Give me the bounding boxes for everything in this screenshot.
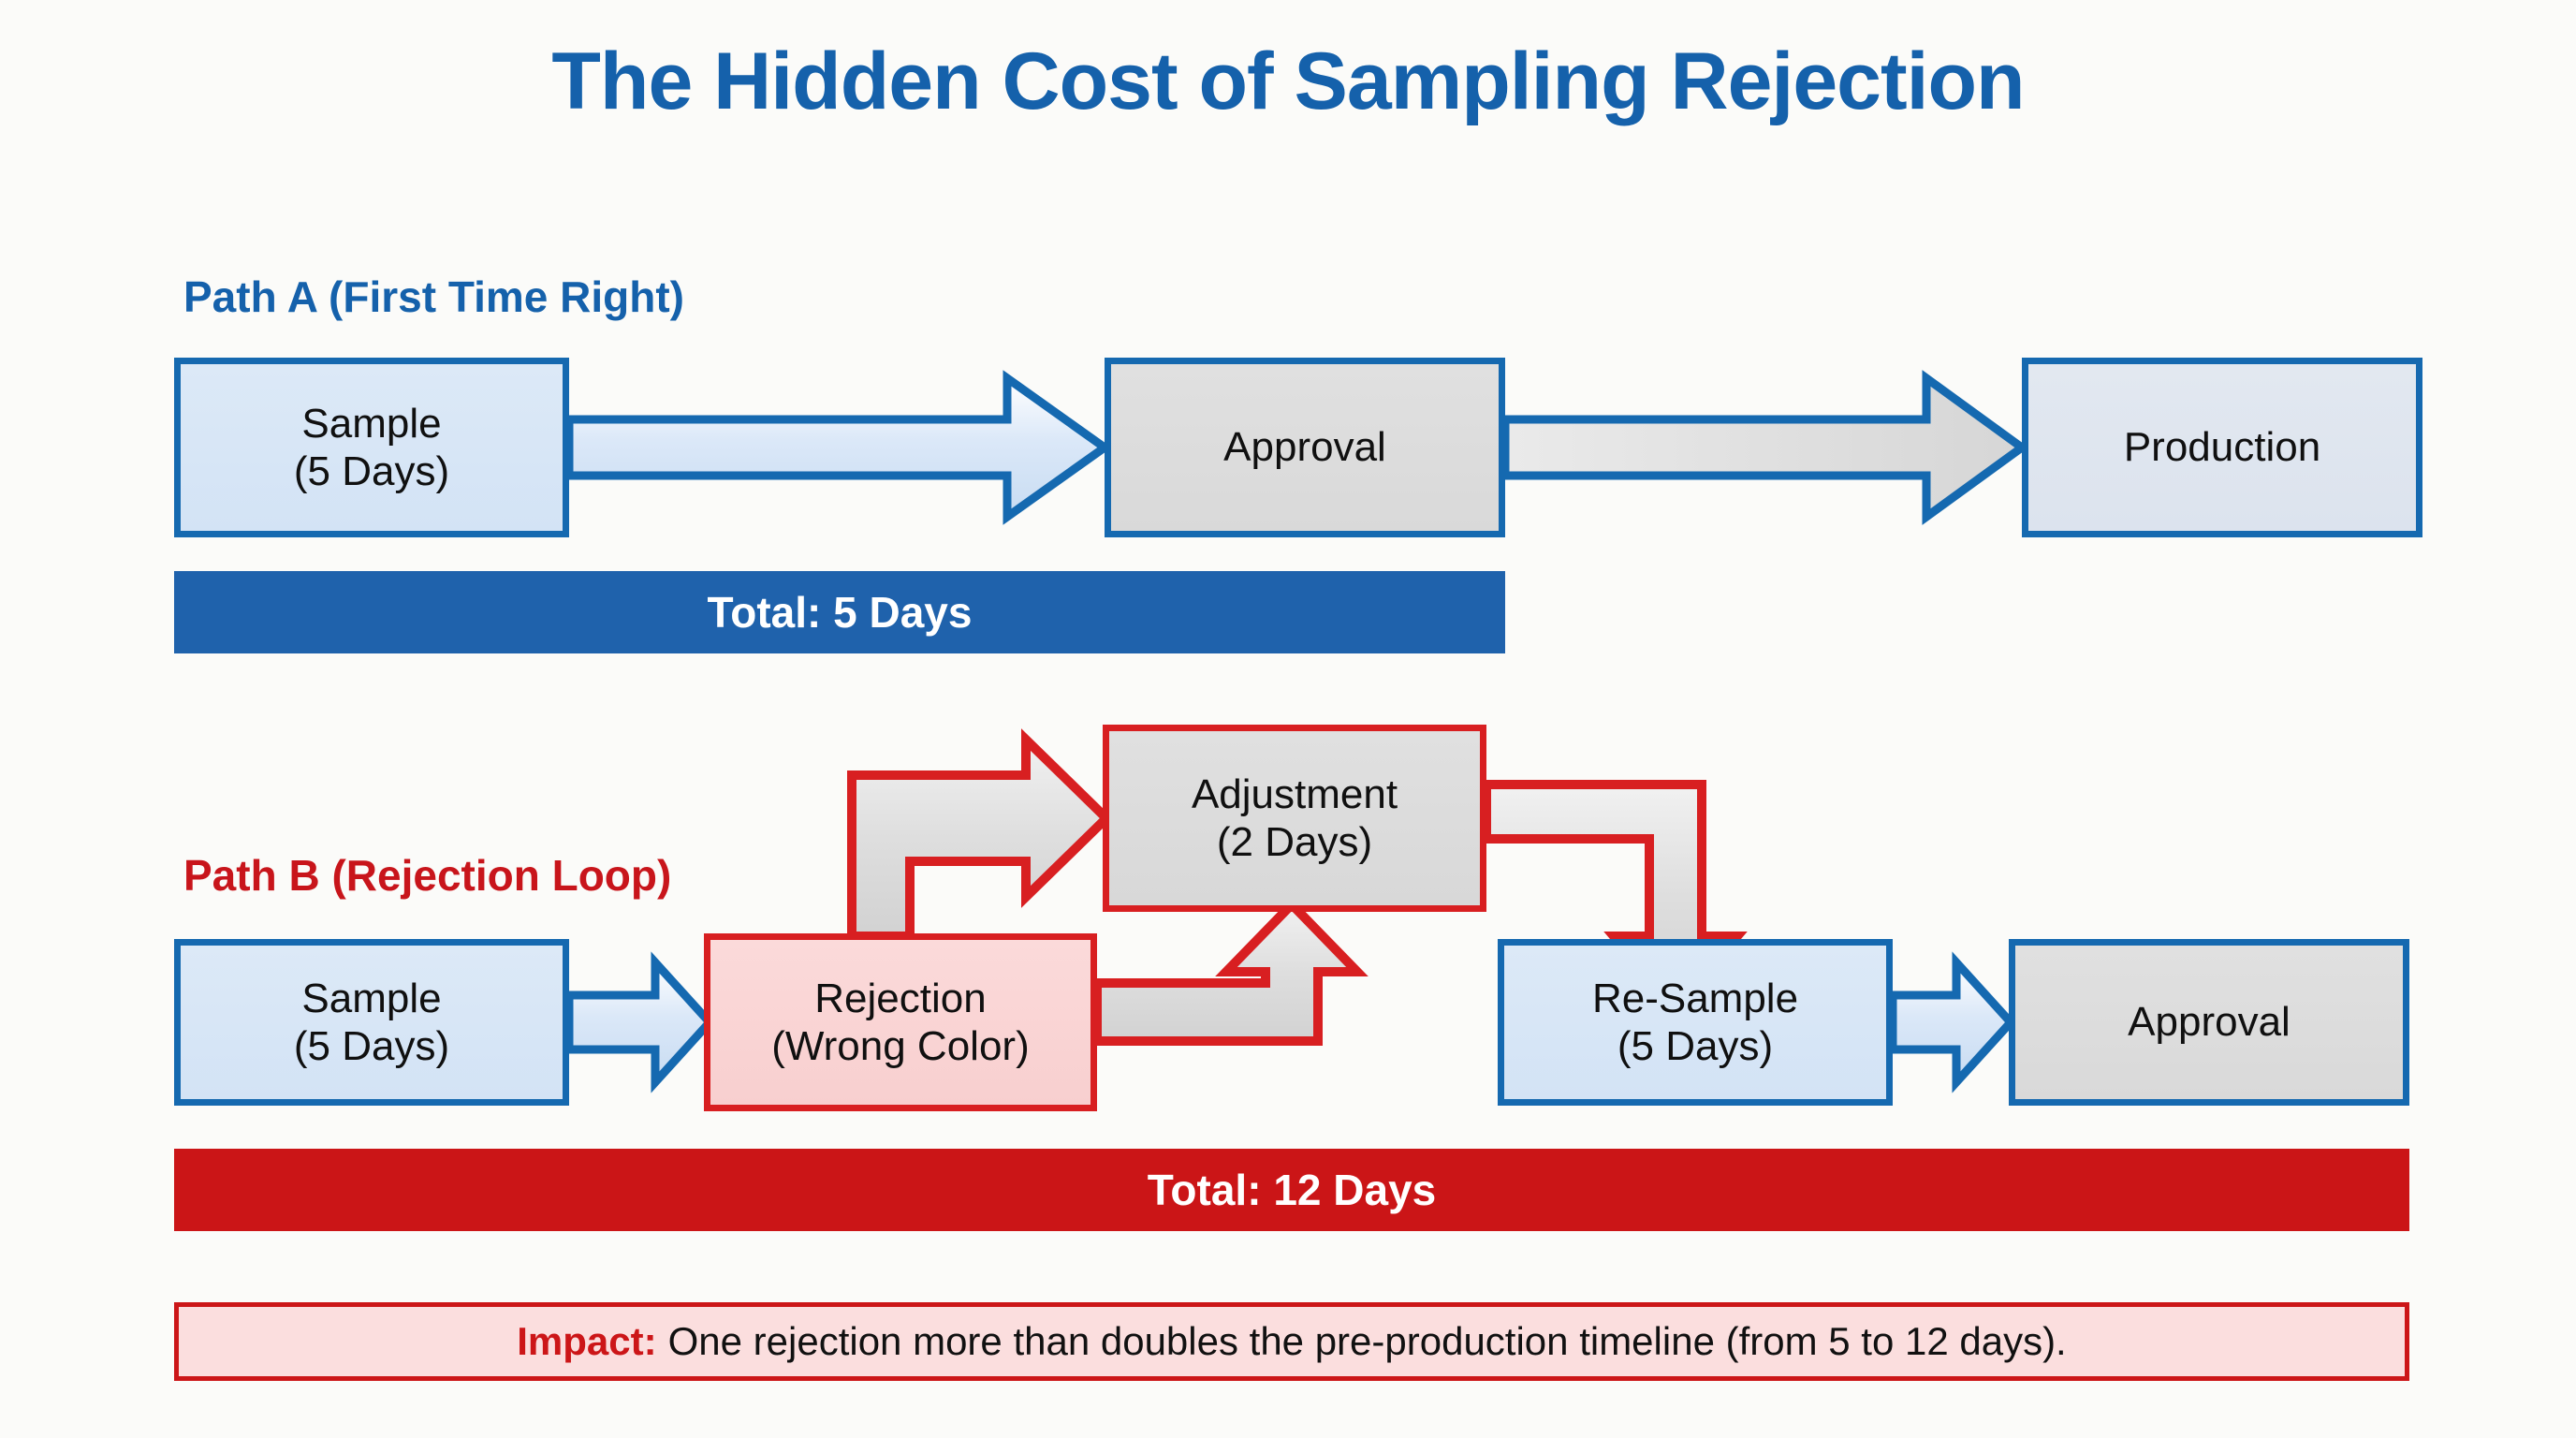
node-approval-b-line1: Approval	[2128, 998, 2291, 1046]
total-a-label: Total: 5 Days	[708, 587, 973, 638]
node-sample-b-line1: Sample	[301, 975, 441, 1022]
node-rejection[interactable]: Rejection (Wrong Color)	[704, 933, 1097, 1111]
node-sample-b-line2: (5 Days)	[294, 1022, 449, 1070]
node-resample-line1: Re-Sample	[1592, 975, 1798, 1022]
arrow-resample-to-approval-b	[1893, 962, 2011, 1082]
node-adjustment[interactable]: Adjustment (2 Days)	[1103, 725, 1486, 912]
impact-callout: Impact: One rejection more than doubles …	[174, 1302, 2409, 1381]
impact-label: Impact:	[517, 1319, 656, 1364]
node-production-line1: Production	[2124, 423, 2320, 471]
node-rejection-line1: Rejection	[814, 975, 986, 1022]
node-adjustment-line1: Adjustment	[1192, 770, 1398, 818]
arrow-rejection-to-adjustment-bottom	[1097, 904, 1357, 1041]
node-adjustment-line2: (2 Days)	[1217, 818, 1372, 866]
node-sample-a-line1: Sample	[301, 400, 441, 448]
node-approval-a-line1: Approval	[1223, 423, 1386, 471]
node-approval-b[interactable]: Approval	[2009, 939, 2409, 1106]
total-bar-path-a: Total: 5 Days	[174, 571, 1505, 653]
total-b-label: Total: 12 Days	[1148, 1165, 1436, 1215]
node-resample[interactable]: Re-Sample (5 Days)	[1498, 939, 1893, 1106]
node-production[interactable]: Production	[2022, 358, 2422, 537]
node-sample-a-line2: (5 Days)	[294, 448, 449, 495]
node-approval-a[interactable]: Approval	[1105, 358, 1505, 537]
diagram-canvas: The Hidden Cost of Sampling Rejection	[0, 0, 2576, 1438]
total-bar-path-b: Total: 12 Days	[174, 1149, 2409, 1231]
node-resample-line2: (5 Days)	[1617, 1022, 1773, 1070]
node-rejection-line2: (Wrong Color)	[771, 1022, 1029, 1070]
arrow-sample-to-rejection-b	[569, 962, 710, 1082]
arrow-sample-to-approval-a	[569, 378, 1105, 517]
arrow-rejection-to-adjustment-left	[852, 740, 1106, 936]
arrow-approval-to-production-a	[1505, 378, 2022, 517]
node-sample-b[interactable]: Sample (5 Days)	[174, 939, 569, 1106]
impact-text: One rejection more than doubles the pre-…	[668, 1319, 2067, 1364]
node-sample-a[interactable]: Sample (5 Days)	[174, 358, 569, 537]
